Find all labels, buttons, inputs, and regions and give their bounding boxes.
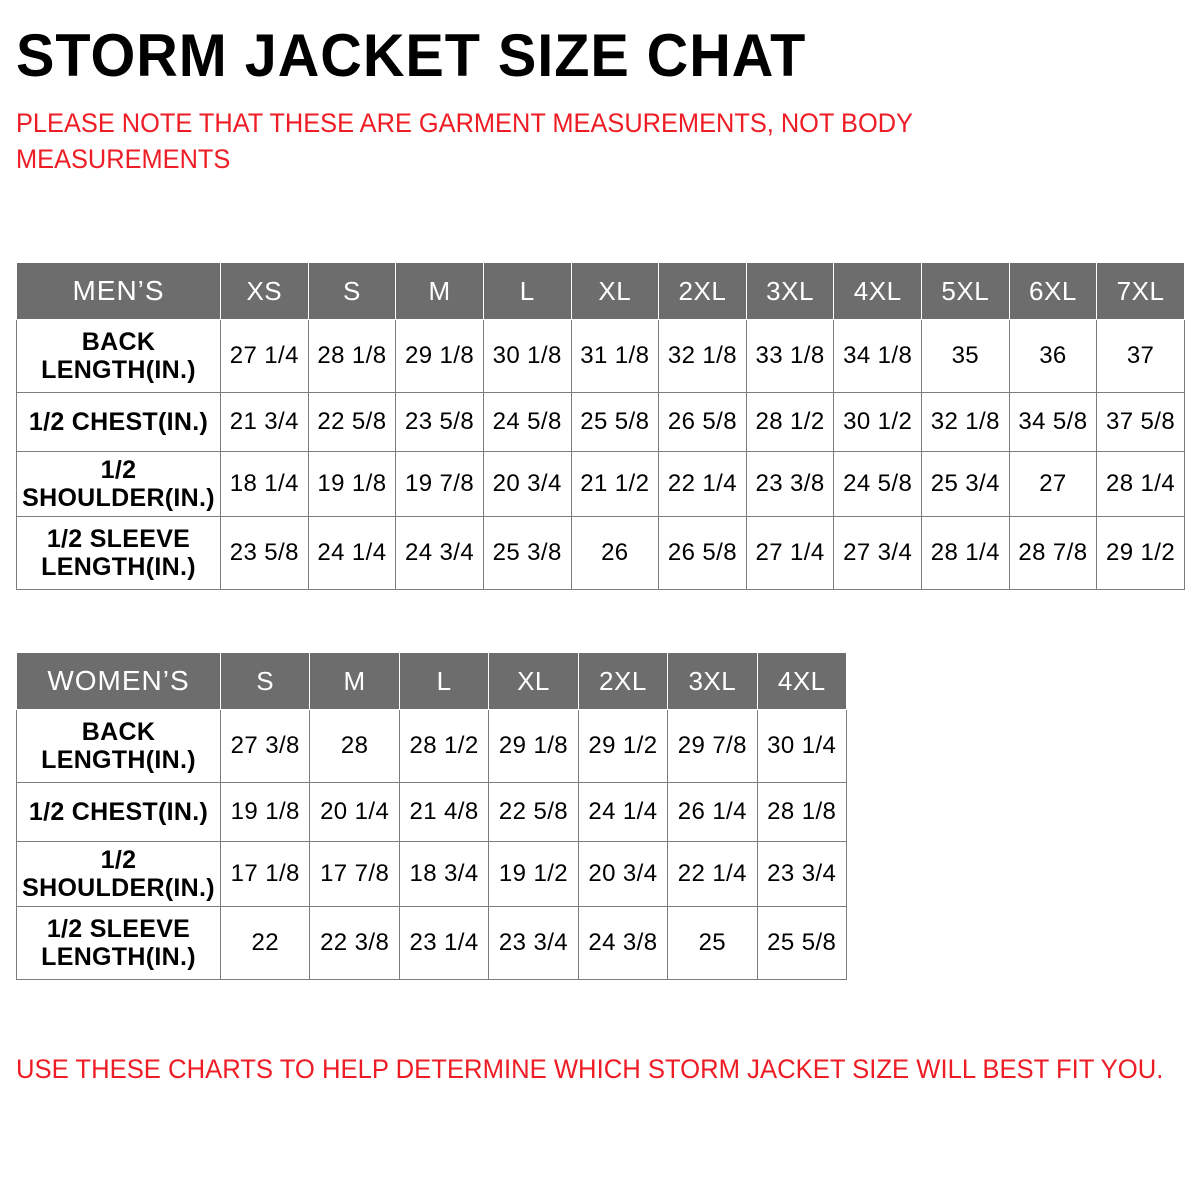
womens-sleeve-m: 22 3/8	[310, 907, 399, 980]
mens-size-xl: XL	[571, 263, 659, 320]
womens-size-2xl: 2XL	[578, 653, 667, 710]
womens-chest-xl: 22 5/8	[489, 783, 578, 842]
mens-row-label-chest: 1/2 CHEST(IN.)	[17, 393, 221, 452]
womens-sleeve-2xl: 24 3/8	[578, 907, 667, 980]
womens-shoulder-l: 18 3/4	[399, 842, 488, 907]
mens-chest-s: 22 5/8	[308, 393, 396, 452]
mens-chest-6xl: 34 5/8	[1009, 393, 1097, 452]
womens-row-label-back-length: BACK LENGTH(IN.)	[17, 710, 221, 783]
mens-chest-l: 24 5/8	[483, 393, 571, 452]
mens-chest-xs: 21 3/4	[221, 393, 309, 452]
womens-sleeve-s: 22	[221, 907, 310, 980]
mens-chest-3xl: 28 1/2	[746, 393, 834, 452]
womens-sleeve-4xl: 25 5/8	[757, 907, 846, 980]
womens-row-label-sleeve-length: 1/2 SLEEVE LENGTH(IN.)	[17, 907, 221, 980]
mens-sleeve-m: 24 3/4	[396, 517, 484, 590]
womens-size-4xl: 4XL	[757, 653, 846, 710]
womens-shoulder-xl: 19 1/2	[489, 842, 578, 907]
mens-back-length-6xl: 36	[1009, 320, 1097, 393]
mens-table-header: MEN’S XS S M L XL 2XL 3XL 4XL 5XL 6XL 7X…	[17, 263, 1185, 320]
womens-back-length-2xl: 29 1/2	[578, 710, 667, 783]
mens-shoulder-s: 19 1/8	[308, 452, 396, 517]
mens-header-row: MEN’S XS S M L XL 2XL 3XL 4XL 5XL 6XL 7X…	[17, 263, 1185, 320]
mens-size-2xl: 2XL	[659, 263, 747, 320]
mens-chest-xl: 25 5/8	[571, 393, 659, 452]
mens-shoulder-4xl: 24 5/8	[834, 452, 922, 517]
mens-shoulder-7xl: 28 1/4	[1097, 452, 1185, 517]
womens-sleeve-3xl: 25	[668, 907, 757, 980]
womens-table-header: WOMEN’S S M L XL 2XL 3XL 4XL	[17, 653, 847, 710]
womens-size-s: S	[221, 653, 310, 710]
mens-back-length-2xl: 32 1/8	[659, 320, 747, 393]
womens-chest-m: 20 1/4	[310, 783, 399, 842]
page-title: STORM JACKET SIZE CHAT	[16, 0, 1137, 87]
mens-chest-5xl: 32 1/8	[922, 393, 1010, 452]
womens-size-xl: XL	[489, 653, 578, 710]
mens-back-length-7xl: 37	[1097, 320, 1185, 393]
womens-shoulder-m: 17 7/8	[310, 842, 399, 907]
garment-measurement-note: PLEASE NOTE THAT THESE ARE GARMENT MEASU…	[16, 105, 918, 178]
mens-row-label-shoulder: 1/2 SHOULDER(IN.)	[17, 452, 221, 517]
womens-row-label-chest: 1/2 CHEST(IN.)	[17, 783, 221, 842]
mens-row-label-back-length: BACK LENGTH(IN.)	[17, 320, 221, 393]
mens-back-length-l: 30 1/8	[483, 320, 571, 393]
mens-sleeve-5xl: 28 1/4	[922, 517, 1010, 590]
mens-shoulder-2xl: 22 1/4	[659, 452, 747, 517]
womens-size-l: L	[399, 653, 488, 710]
mens-sleeve-4xl: 27 3/4	[834, 517, 922, 590]
mens-chest-2xl: 26 5/8	[659, 393, 747, 452]
mens-back-length-s: 28 1/8	[308, 320, 396, 393]
mens-size-6xl: 6XL	[1009, 263, 1097, 320]
mens-sleeve-xl: 26	[571, 517, 659, 590]
mens-back-length-xs: 27 1/4	[221, 320, 309, 393]
womens-back-length-l: 28 1/2	[399, 710, 488, 783]
womens-shoulder-3xl: 22 1/4	[668, 842, 757, 907]
womens-chest-s: 19 1/8	[221, 783, 310, 842]
mens-sleeve-3xl: 27 1/4	[746, 517, 834, 590]
fit-help-note: USE THESE CHARTS TO HELP DETERMINE WHICH…	[16, 1052, 1163, 1087]
mens-back-length-3xl: 33 1/8	[746, 320, 834, 393]
mens-chest-7xl: 37 5/8	[1097, 393, 1185, 452]
mens-back-length-m: 29 1/8	[396, 320, 484, 393]
womens-chest-l: 21 4/8	[399, 783, 488, 842]
mens-size-4xl: 4XL	[834, 263, 922, 320]
mens-size-3xl: 3XL	[746, 263, 834, 320]
womens-back-length-4xl: 30 1/4	[757, 710, 846, 783]
mens-shoulder-l: 20 3/4	[483, 452, 571, 517]
mens-size-xs: XS	[221, 263, 309, 320]
womens-sleeve-l: 23 1/4	[399, 907, 488, 980]
mens-size-l: L	[483, 263, 571, 320]
mens-shoulder-xs: 18 1/4	[221, 452, 309, 517]
mens-shoulder-xl: 21 1/2	[571, 452, 659, 517]
womens-group-label: WOMEN’S	[17, 653, 221, 710]
womens-back-length-3xl: 29 7/8	[668, 710, 757, 783]
womens-chest-3xl: 26 1/4	[668, 783, 757, 842]
womens-back-length-m: 28	[310, 710, 399, 783]
mens-sleeve-2xl: 26 5/8	[659, 517, 747, 590]
womens-shoulder-2xl: 20 3/4	[578, 842, 667, 907]
womens-back-length-xl: 29 1/8	[489, 710, 578, 783]
table-row: 1/2 CHEST(IN.) 21 3/4 22 5/8 23 5/8 24 5…	[17, 393, 1185, 452]
table-row: BACK LENGTH(IN.) 27 3/8 28 28 1/2 29 1/8…	[17, 710, 847, 783]
table-row: 1/2 CHEST(IN.) 19 1/8 20 1/4 21 4/8 22 5…	[17, 783, 847, 842]
womens-header-row: WOMEN’S S M L XL 2XL 3XL 4XL	[17, 653, 847, 710]
mens-row-label-sleeve-length: 1/2 SLEEVE LENGTH(IN.)	[17, 517, 221, 590]
mens-sleeve-7xl: 29 1/2	[1097, 517, 1185, 590]
womens-size-3xl: 3XL	[668, 653, 757, 710]
mens-shoulder-6xl: 27	[1009, 452, 1097, 517]
womens-shoulder-4xl: 23 3/4	[757, 842, 846, 907]
mens-sleeve-s: 24 1/4	[308, 517, 396, 590]
mens-size-m: M	[396, 263, 484, 320]
womens-back-length-s: 27 3/8	[221, 710, 310, 783]
mens-back-length-xl: 31 1/8	[571, 320, 659, 393]
womens-row-label-shoulder: 1/2 SHOULDER(IN.)	[17, 842, 221, 907]
table-row: 1/2 SLEEVE LENGTH(IN.) 22 22 3/8 23 1/4 …	[17, 907, 847, 980]
table-row: 1/2 SLEEVE LENGTH(IN.) 23 5/8 24 1/4 24 …	[17, 517, 1185, 590]
mens-sleeve-6xl: 28 7/8	[1009, 517, 1097, 590]
mens-size-s: S	[308, 263, 396, 320]
womens-chest-4xl: 28 1/8	[757, 783, 846, 842]
mens-shoulder-m: 19 7/8	[396, 452, 484, 517]
womens-size-table: WOMEN’S S M L XL 2XL 3XL 4XL BACK LENGTH…	[16, 652, 847, 980]
mens-shoulder-3xl: 23 3/8	[746, 452, 834, 517]
mens-sleeve-l: 25 3/8	[483, 517, 571, 590]
womens-shoulder-s: 17 1/8	[221, 842, 310, 907]
womens-chest-2xl: 24 1/4	[578, 783, 667, 842]
mens-chest-4xl: 30 1/2	[834, 393, 922, 452]
mens-size-7xl: 7XL	[1097, 263, 1185, 320]
mens-back-length-5xl: 35	[922, 320, 1010, 393]
mens-size-table: MEN’S XS S M L XL 2XL 3XL 4XL 5XL 6XL 7X…	[16, 262, 1185, 590]
table-row: 1/2 SHOULDER(IN.) 18 1/4 19 1/8 19 7/8 2…	[17, 452, 1185, 517]
womens-table-body: BACK LENGTH(IN.) 27 3/8 28 28 1/2 29 1/8…	[17, 710, 847, 980]
mens-sleeve-xs: 23 5/8	[221, 517, 309, 590]
mens-table-body: BACK LENGTH(IN.) 27 1/4 28 1/8 29 1/8 30…	[17, 320, 1185, 590]
womens-size-m: M	[310, 653, 399, 710]
table-row: BACK LENGTH(IN.) 27 1/4 28 1/8 29 1/8 30…	[17, 320, 1185, 393]
mens-back-length-4xl: 34 1/8	[834, 320, 922, 393]
womens-sleeve-xl: 23 3/4	[489, 907, 578, 980]
mens-size-5xl: 5XL	[922, 263, 1010, 320]
mens-chest-m: 23 5/8	[396, 393, 484, 452]
size-chart-page: STORM JACKET SIZE CHAT PLEASE NOTE THAT …	[0, 0, 1200, 1200]
table-row: 1/2 SHOULDER(IN.) 17 1/8 17 7/8 18 3/4 1…	[17, 842, 847, 907]
mens-group-label: MEN’S	[17, 263, 221, 320]
mens-shoulder-5xl: 25 3/4	[922, 452, 1010, 517]
